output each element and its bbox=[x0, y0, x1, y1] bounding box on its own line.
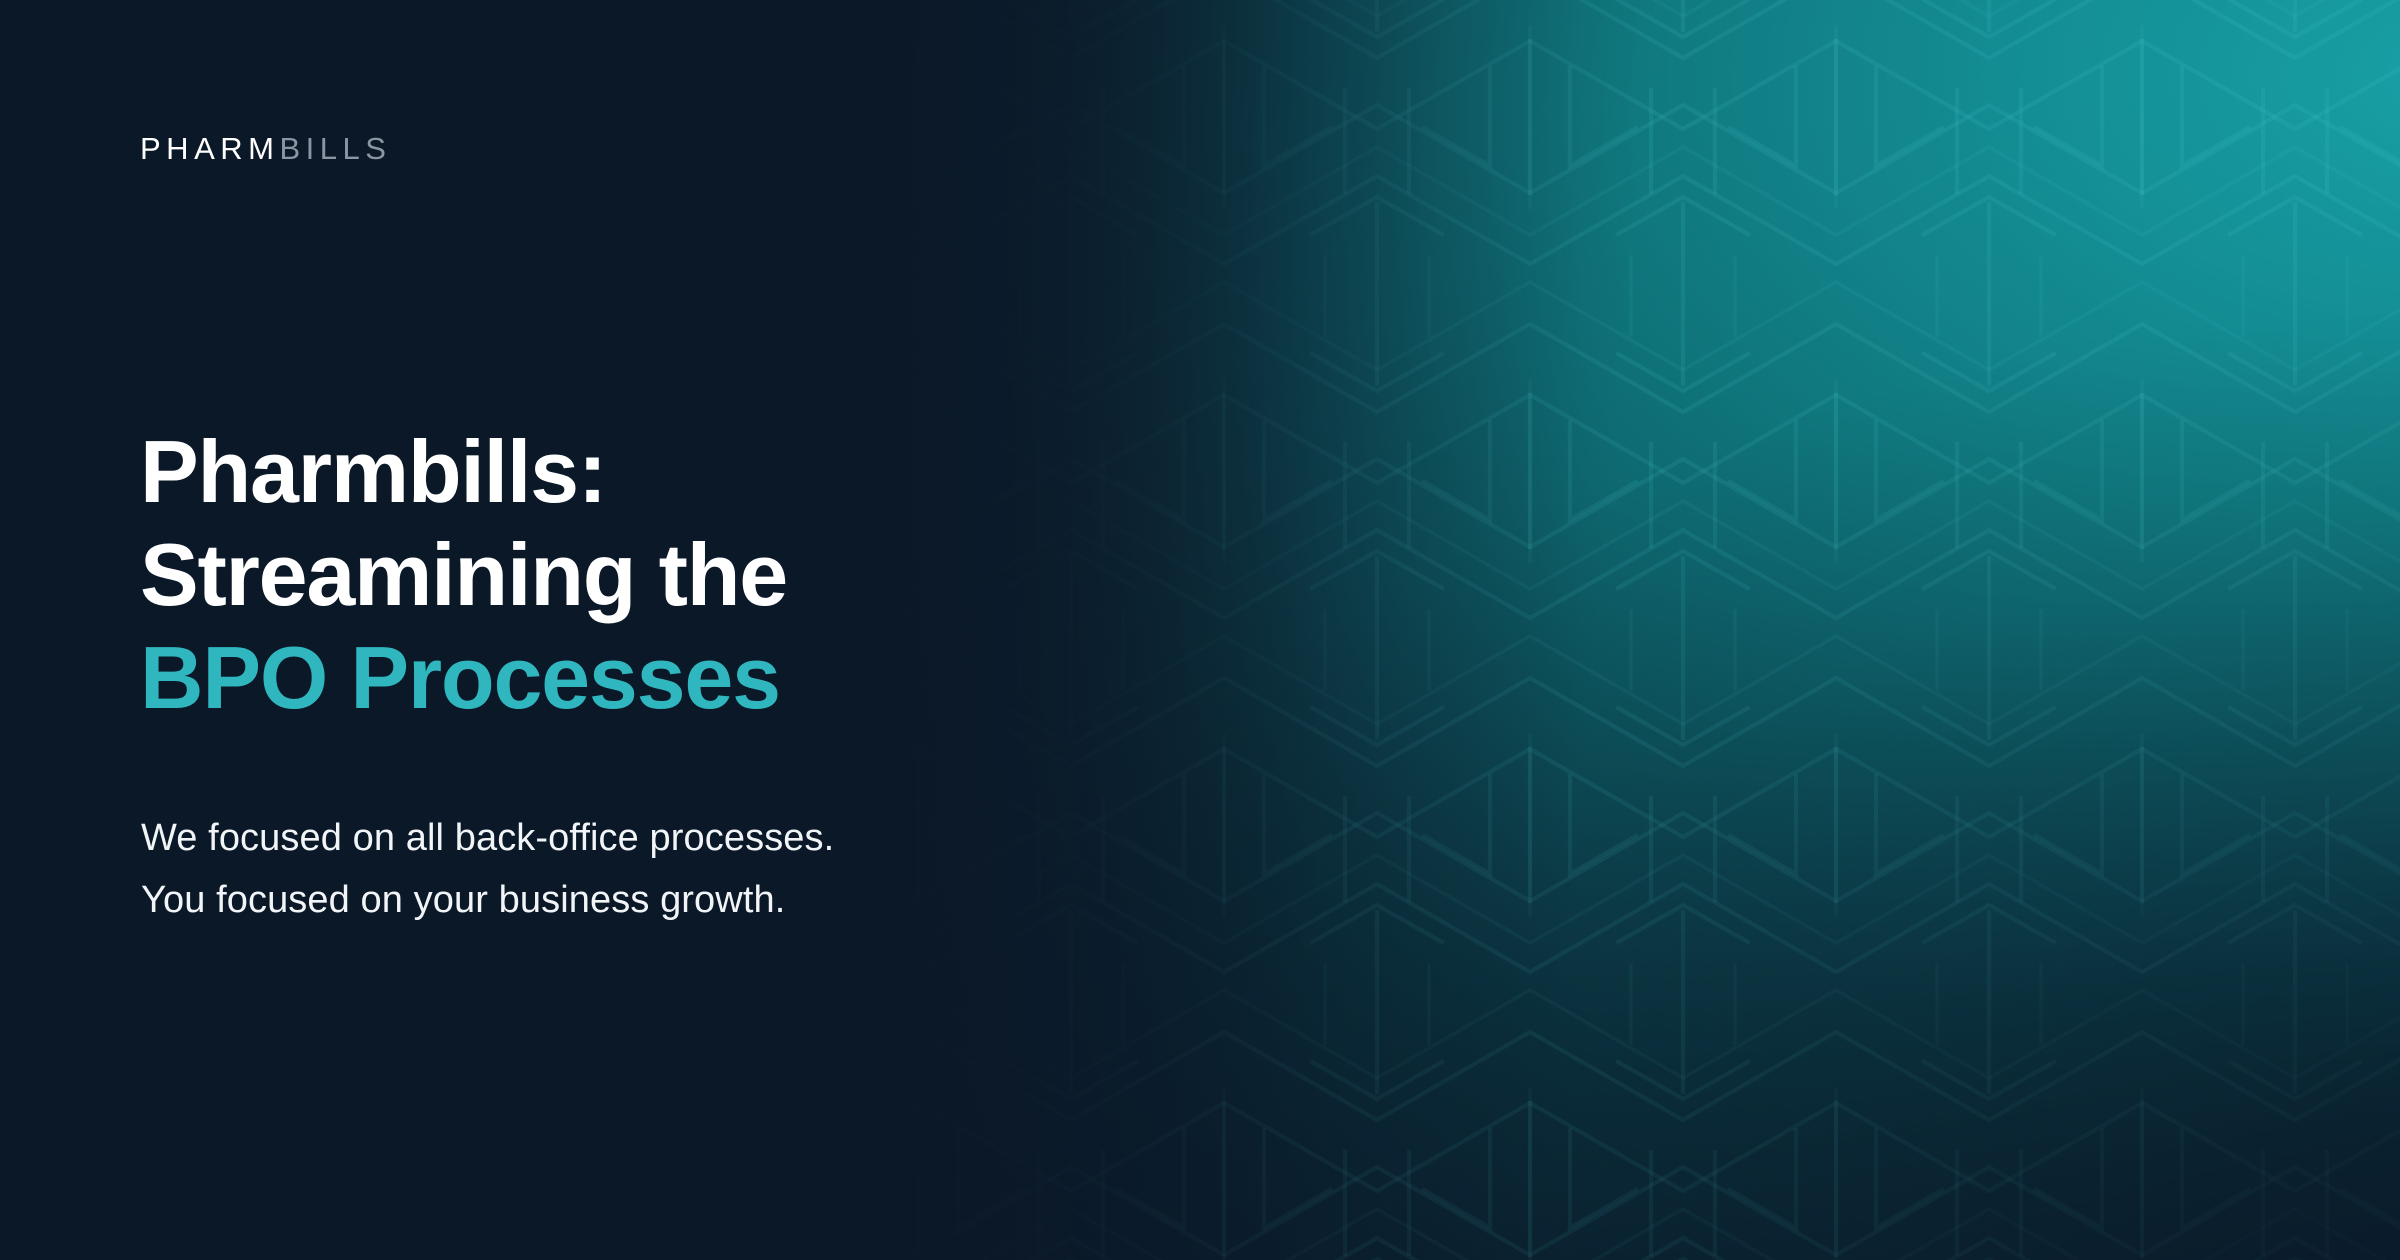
hero-content: PHARMBILLS Pharmbills: Streamining the B… bbox=[0, 0, 2400, 1260]
hero-slide: PHARMBILLS Pharmbills: Streamining the B… bbox=[0, 0, 2400, 1260]
headline-line-1: Pharmbills: bbox=[140, 421, 787, 524]
brand-logo[interactable]: PHARMBILLS bbox=[140, 133, 391, 164]
brand-logo-primary: PHARM bbox=[140, 131, 279, 166]
brand-logo-secondary: BILLS bbox=[279, 131, 391, 166]
subtitle-line-2: You focused on your business growth. bbox=[141, 870, 834, 932]
subtitle-line-1: We focused on all back-office processes. bbox=[141, 808, 834, 870]
headline-line-2: Streamining the bbox=[140, 524, 787, 627]
headline-line-3-accent: BPO Processes bbox=[140, 627, 787, 730]
hero-headline: Pharmbills: Streamining the BPO Processe… bbox=[140, 421, 787, 730]
hero-subtitle: We focused on all back-office processes.… bbox=[141, 808, 834, 931]
